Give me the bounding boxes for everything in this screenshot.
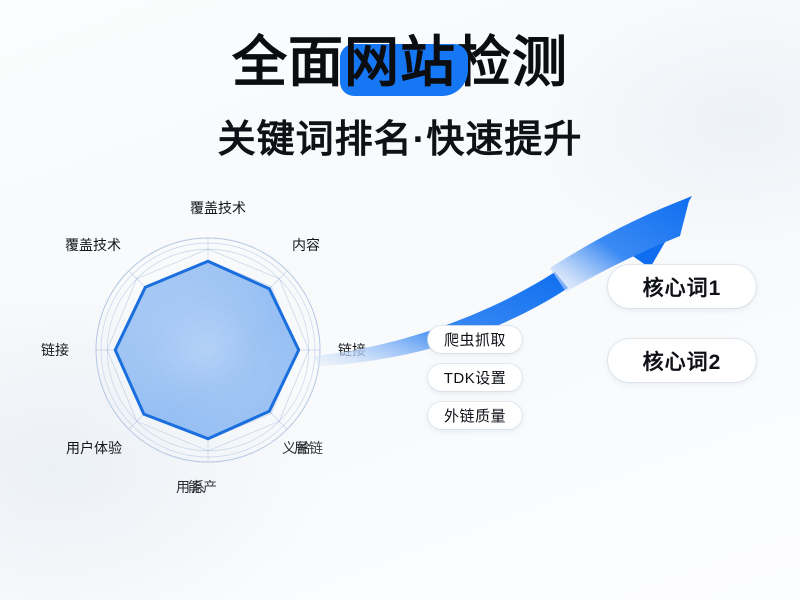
feature-pill-crawl-label: 爬虫抓取 [444, 329, 506, 350]
keyword-pill-2[interactable]: 核心词2 [608, 339, 756, 382]
keyword-pill-1-label: 核心词1 [643, 272, 722, 302]
feature-pill-tdk-label: TDK设置 [444, 367, 507, 388]
page-title-part-after: 检测 [456, 31, 568, 93]
radar-axis-label-bottom-right: 义居给链 [282, 439, 330, 457]
radar-geometry [96, 238, 320, 462]
radar-axis-label-bottom-right-layer-b: 给链 [297, 440, 321, 456]
radar-axis-label-bottom-layer-b: 系产 [191, 479, 215, 495]
feature-pill-backlink[interactable]: 外链质量 [428, 402, 522, 429]
radar-axis-label-bottom-left: 用户体验 [66, 439, 122, 457]
page-title-highlight: 网站 [344, 30, 456, 94]
radar-axis-label-top-left: 覆盖技术 [65, 236, 121, 254]
page-title-text: 全面网站检测 [232, 30, 568, 94]
page-title-part-before: 全面 [232, 31, 344, 93]
feature-pill-crawl[interactable]: 爬虫抓取 [428, 326, 522, 353]
feature-pill-tdk[interactable]: TDK设置 [428, 364, 522, 391]
keyword-pill-1[interactable]: 核心词1 [608, 265, 756, 308]
page-subtitle: 关键词排名·快速提升 [0, 114, 800, 166]
radar-axis-label-left: 链接 [41, 341, 69, 359]
page-title-part-highlight: 网站 [344, 31, 456, 93]
keyword-pill-2-label: 核心词2 [643, 346, 722, 376]
radar-axis-label-bottom: 用能系产 [176, 478, 224, 496]
feature-pill-backlink-label: 外链质量 [444, 405, 506, 426]
poster-canvas: 全面网站检测 关键词排名·快速提升 覆盖技术 内容 链接 [0, 0, 800, 600]
page-title: 全面网站检测 [0, 30, 800, 98]
radar-axis-label-top: 覆盖技术 [190, 199, 246, 217]
